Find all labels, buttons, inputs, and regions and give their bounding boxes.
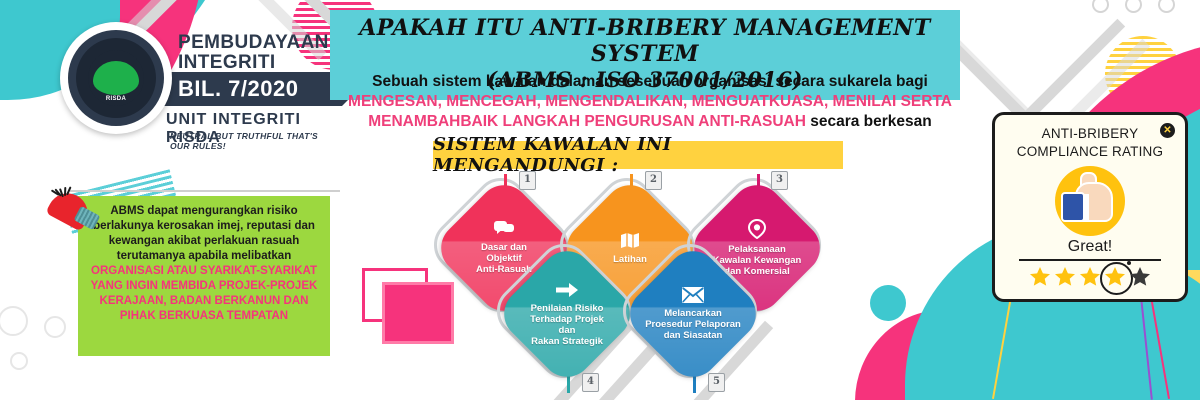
step-card-content: MelancarkanProesedur Pelaporandan Siasat… — [641, 262, 745, 366]
infographic-banner: RISDA PEMBUDAYAAN INTEGRITI BIL. 7/2020 … — [0, 0, 1200, 400]
logo-bil: BIL. 7/2020 — [178, 76, 298, 102]
subtext-block: Sebuah sistem kawalan dalaman sesebuah o… — [330, 72, 970, 132]
risda-badge: RISDA — [60, 22, 172, 134]
headline-line1: APAKAH ITU ANTI-BRIBERY MANAGEMENT SYSTE… — [330, 15, 960, 67]
step-number-3: 3 — [771, 171, 788, 190]
decor-circle-outline-2 — [44, 316, 66, 338]
subtext-lead: Sebuah sistem kawalan dalaman sesebuah o… — [330, 72, 970, 92]
arrow-right-icon — [556, 282, 578, 301]
section-banner: SISTEM KAWALAN INI MENGANDUNGI : — [433, 141, 843, 169]
decor-pink-blob-bottomright — [855, 310, 1075, 400]
decor-teal-dot — [870, 285, 906, 321]
star-1[interactable] — [1029, 266, 1051, 287]
subtext-tail: secara berkesan — [806, 113, 932, 130]
rating-title-line2: COMPLIANCE RATING — [1003, 143, 1177, 161]
emblem-label: RISDA — [88, 96, 144, 102]
star-4[interactable] — [1104, 266, 1126, 287]
envelope-icon — [682, 287, 704, 306]
star-spark — [1127, 261, 1131, 265]
siren-alarm-icon — [42, 186, 98, 234]
green-info-box: ABMS dapat mengurangkan risiko berlakuny… — [78, 196, 330, 356]
location-pin-icon — [748, 219, 766, 242]
badge-inner-ring: RISDA — [76, 38, 156, 118]
decor-circle-outline-3 — [10, 352, 28, 370]
logo-tagline: NEUTRAL BUT TRUTHFUL THAT'S OUR RULES! — [170, 131, 340, 151]
step-number-1: 1 — [519, 171, 536, 190]
thumb-cuff — [1061, 192, 1085, 222]
section-banner-label: SISTEM KAWALAN INI MENGANDUNGI : — [433, 134, 843, 176]
step-card-content: Penilaian RisikoTerhadap ProjekdanRakan … — [515, 262, 619, 366]
decor-square-filled-pink — [382, 282, 454, 344]
logo-title-line2: INTEGRITI — [178, 53, 329, 73]
step-card-label: Penilaian RisikoTerhadap ProjekdanRakan … — [508, 303, 626, 347]
subtext-line3: MENAMBAHBAIK LANGKAH PENGURUSAN ANTI-RAS… — [330, 112, 970, 132]
rating-title-line1: ANTI-BRIBERY — [1003, 125, 1177, 143]
decor-circle-outline-1 — [0, 306, 28, 336]
leaf-icon — [93, 61, 139, 95]
decor-gray-rule — [70, 190, 340, 192]
green-box-black-text: ABMS dapat mengurangkan risiko berlakuny… — [84, 204, 324, 264]
rating-verdict: Great! — [1003, 238, 1177, 256]
speech-bubble-icon — [494, 221, 514, 240]
subtext-highlight2: MENAMBAHBAIK LANGKAH PENGURUSAN ANTI-RAS… — [368, 113, 806, 130]
star-3[interactable] — [1079, 266, 1101, 287]
decor-square-outline-pink — [362, 268, 428, 322]
step-card-label: MelancarkanProesedur Pelaporandan Siasat… — [634, 308, 752, 341]
step-card-4[interactable]: Penilaian RisikoTerhadap ProjekdanRakan … — [493, 240, 640, 387]
compliance-rating-card: ✕ ANTI-BRIBERY COMPLIANCE RATING Great! — [992, 112, 1188, 302]
logo-lockup: RISDA PEMBUDAYAAN INTEGRITI BIL. 7/2020 … — [60, 18, 340, 148]
star-rating[interactable] — [1003, 266, 1177, 287]
close-icon[interactable]: ✕ — [1160, 123, 1175, 138]
risda-emblem-icon: RISDA — [88, 50, 144, 106]
green-box-pink-text: ORGANISASI ATAU SYARIKAT-SYARIKAT YANG I… — [84, 264, 324, 324]
subtext-highlight1: MENGESAN, MENCEGAH, MENGENDALIKAN, MENGU… — [330, 92, 970, 112]
logo-title: PEMBUDAYAAN INTEGRITI — [178, 33, 329, 73]
thumbs-up-icon — [1055, 166, 1125, 236]
step-number-2: 2 — [645, 171, 662, 190]
map-icon — [620, 232, 640, 252]
step-card-5[interactable]: MelancarkanProesedur Pelaporandan Siasat… — [619, 240, 766, 387]
logo-title-line1: PEMBUDAYAAN — [178, 33, 329, 53]
star-2[interactable] — [1054, 266, 1076, 287]
step-number-5: 5 — [708, 373, 725, 392]
step-number-4: 4 — [582, 373, 599, 392]
rating-divider — [1019, 259, 1161, 261]
star-5[interactable] — [1129, 266, 1151, 287]
